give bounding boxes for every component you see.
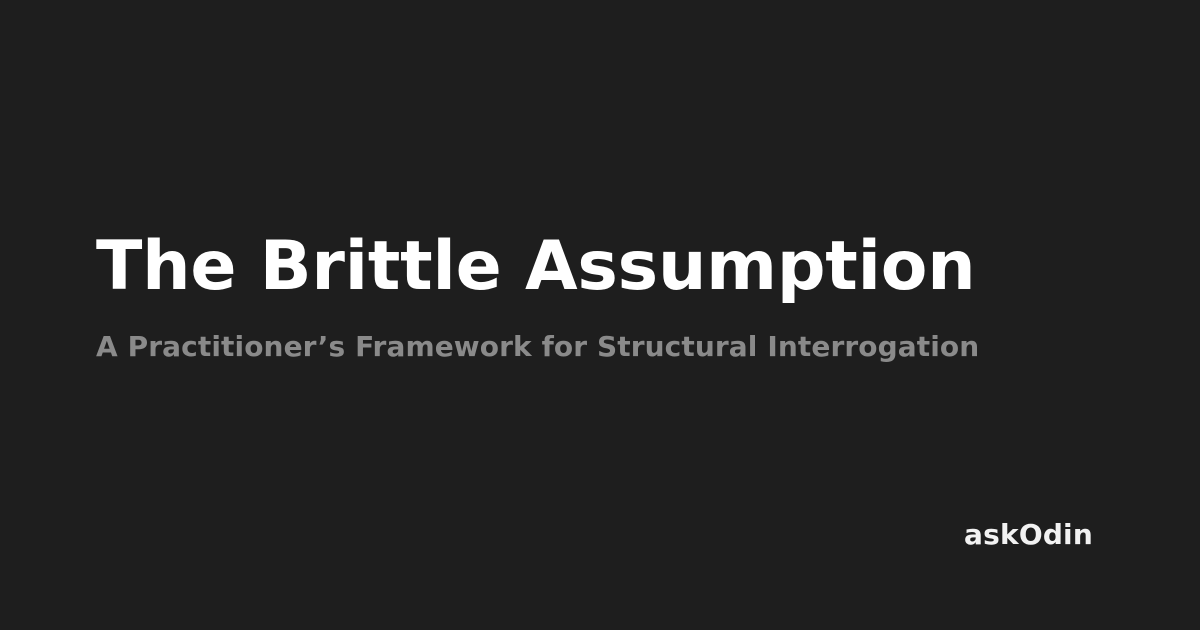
- page-title: The Brittle Assumption: [96, 228, 1096, 306]
- page-subtitle: A Practitioner’s Framework for Structura…: [96, 306, 1096, 364]
- brand-wordmark: askOdin: [964, 518, 1093, 552]
- og-share-card: The Brittle Assumption A Practitioner’s …: [0, 0, 1200, 630]
- headline-block: The Brittle Assumption A Practitioner’s …: [96, 228, 1096, 364]
